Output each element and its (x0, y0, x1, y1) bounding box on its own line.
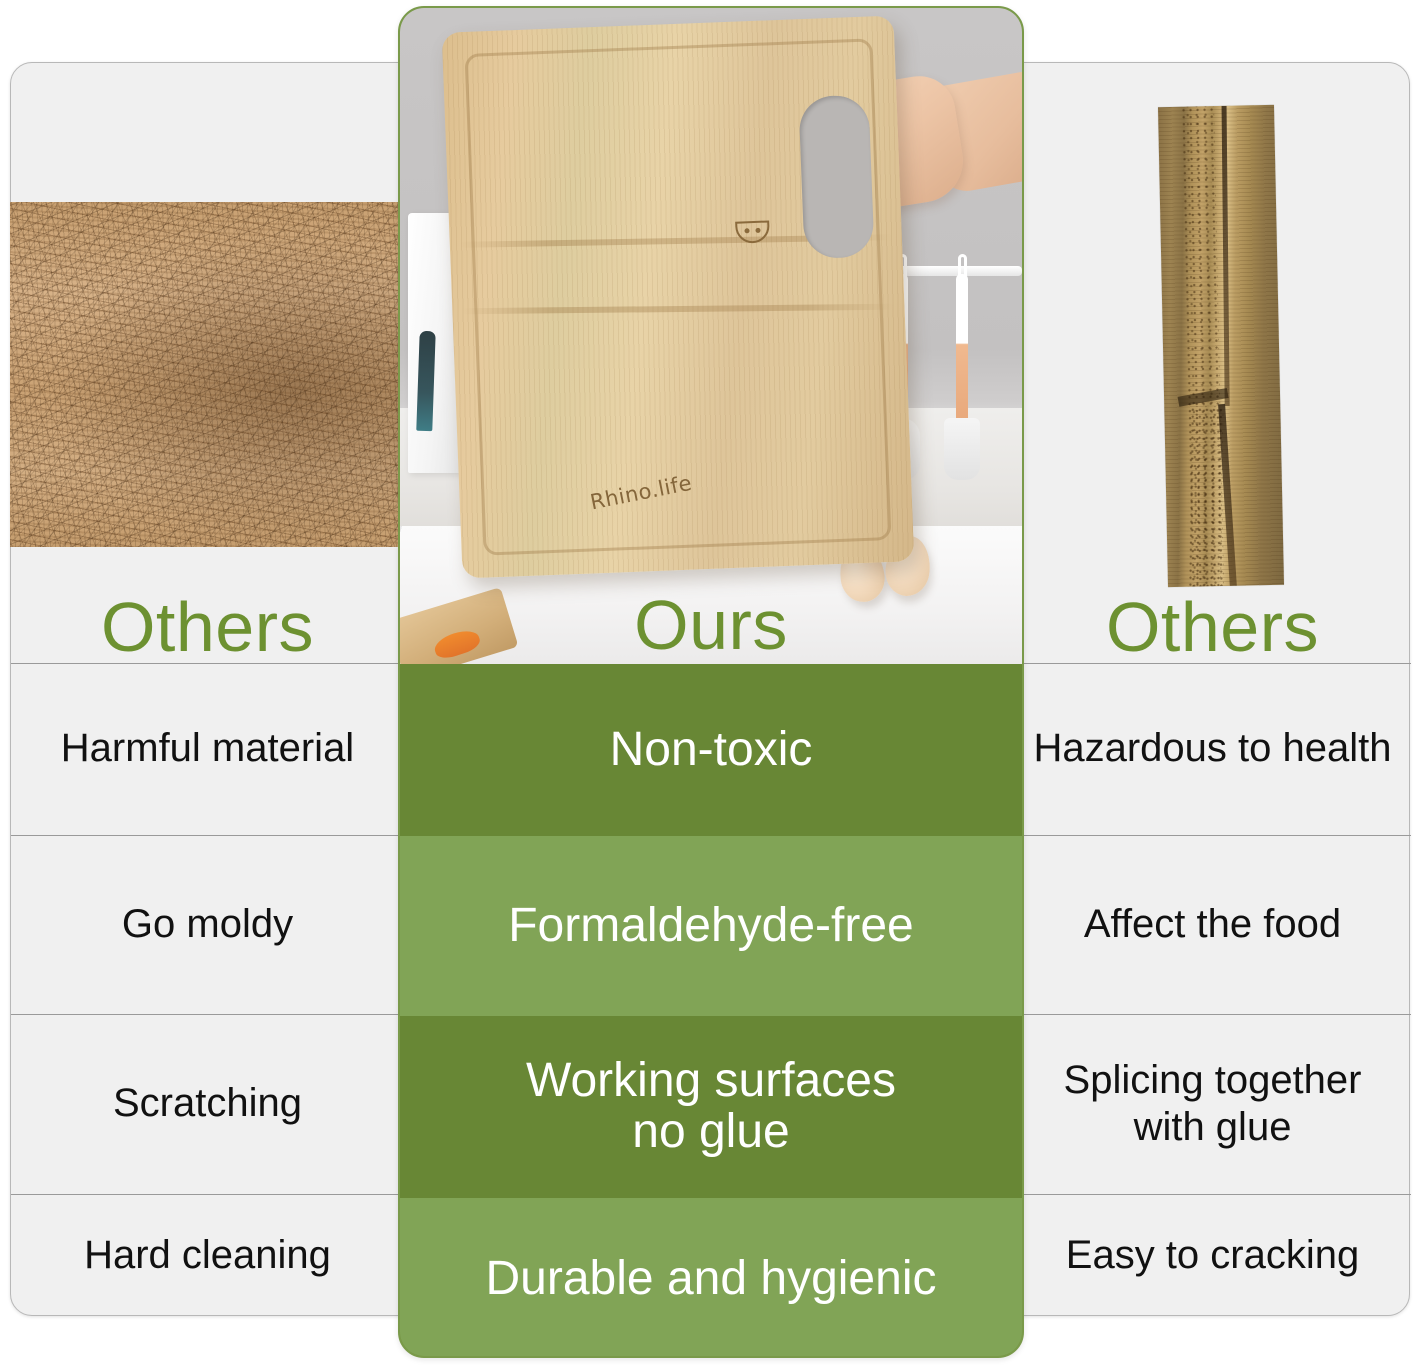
others-right-image (1015, 62, 1410, 662)
cracked-bamboo-photo (1158, 105, 1284, 587)
board-handle-hole (798, 95, 874, 260)
others-left-column: Others Harmful material Go moldy Scratch… (10, 62, 405, 1316)
bamboo-cutting-board: Rhino.life (442, 16, 915, 579)
others-right-column: Others Hazardous to health Affect the fo… (1015, 62, 1410, 1316)
others-left-cell-0: Harmful material (10, 663, 405, 834)
ours-cell-2: Working surfaces no glue (400, 1016, 1022, 1198)
ours-cell-1: Formaldehyde-free (400, 836, 1022, 1016)
others-right-cell-0: Hazardous to health (1015, 663, 1410, 834)
product-photo: Rhino.life (400, 8, 1022, 664)
bamboo-pores (1187, 406, 1224, 586)
others-left-heading: Others (10, 592, 405, 662)
others-right-cell-1: Affect the food (1015, 835, 1410, 1013)
utensil-head (944, 418, 980, 480)
others-right-cell-3: Easy to cracking (1015, 1194, 1410, 1316)
others-left-cell-2: Scratching (10, 1014, 405, 1193)
utensil-stem (956, 274, 968, 424)
ours-cell-0: Non-toxic (400, 664, 1022, 836)
knife-handle-icon (416, 331, 435, 431)
ours-cell-3: Durable and hygienic (400, 1198, 1022, 1358)
ours-heading: Ours (400, 590, 1022, 660)
others-left-cell-3: Hard cleaning (10, 1194, 405, 1316)
others-right-heading: Others (1015, 592, 1410, 662)
others-left-image (10, 62, 405, 662)
others-left-cell-1: Go moldy (10, 835, 405, 1013)
ours-column-card: Rhino.life Ours Non-toxic Formaldehyde-f… (398, 6, 1024, 1358)
others-right-cell-2: Splicing together with glue (1015, 1014, 1410, 1193)
scratched-board-photo (10, 202, 405, 547)
comparison-infographic: Others Harmful material Go moldy Scratch… (0, 0, 1420, 1366)
